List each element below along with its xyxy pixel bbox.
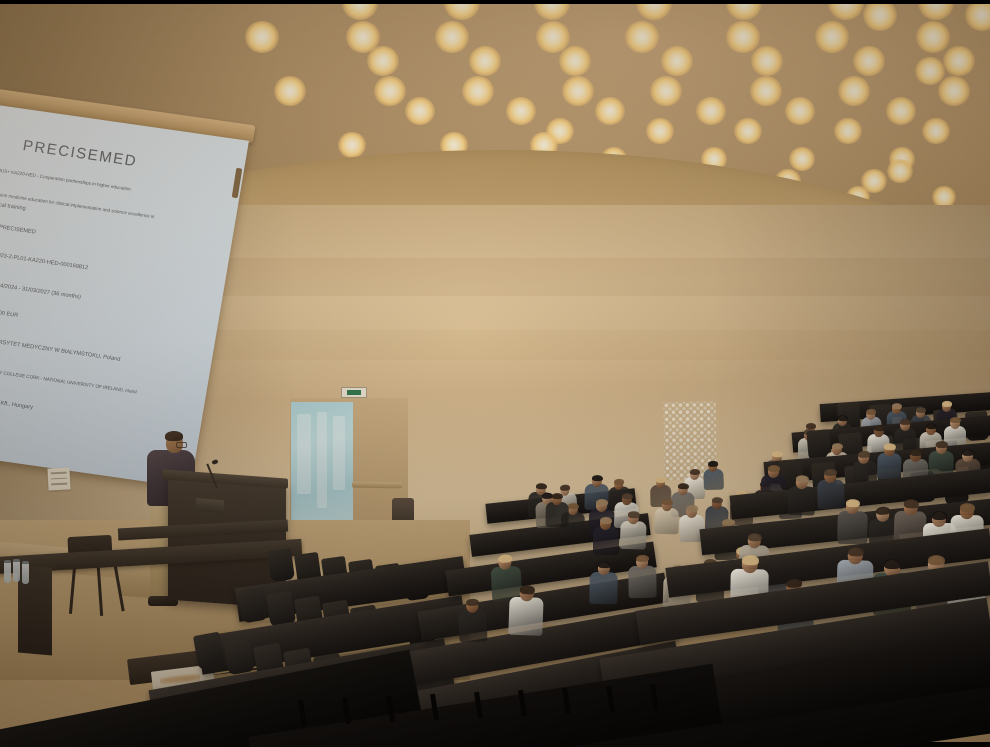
ceiling-light [726, 21, 760, 53]
water-bottle-2 [13, 559, 20, 582]
ceiling-light [595, 97, 624, 125]
person-body [876, 453, 901, 480]
person-hair [959, 503, 974, 512]
person-hair [910, 449, 922, 456]
person-body [654, 508, 678, 534]
seat-back[interactable] [238, 587, 268, 624]
person-hair [768, 465, 780, 472]
ceiling-light [562, 76, 594, 106]
ceiling-light [506, 97, 535, 125]
lecture-hall-photo: PRECISEMED t title:ERASMUS+ KA220-HED - … [0, 0, 990, 747]
ceiling-light [462, 76, 494, 106]
slide-value: PRECISEMED [0, 224, 36, 235]
ceiling-light [338, 132, 365, 158]
person-hair [857, 451, 869, 458]
ceiling-light [734, 118, 761, 144]
person-body [837, 511, 868, 545]
top-letterbox [0, 0, 990, 4]
water-bottle-3 [22, 561, 29, 584]
person-hair [551, 493, 562, 499]
person-hair [621, 493, 632, 500]
person-hair [899, 419, 910, 425]
ceiling-light [785, 97, 814, 125]
ceiling-light [625, 21, 659, 53]
ceiling-light [374, 76, 406, 106]
speaker-glasses [176, 442, 187, 448]
person-hair [559, 485, 569, 491]
ceiling-light [916, 21, 950, 53]
person-hair [613, 479, 623, 485]
ceiling-light [943, 46, 975, 76]
ceiling-light [922, 118, 949, 144]
ceiling-light [661, 46, 693, 76]
seat-back[interactable] [223, 637, 255, 676]
slide-value: iBioScience Kft., Hungary [0, 396, 33, 411]
slide-value: UNIWERSYTET MEDYCZNY W BIALYMSTOKU, Pola… [0, 337, 121, 363]
person-hair [747, 533, 761, 542]
person-hair [875, 507, 889, 516]
slide-title: PRECISEMED [22, 137, 139, 170]
person-hair [845, 499, 859, 507]
person-body [817, 479, 845, 508]
person-hair [567, 503, 578, 509]
ceiling-light [274, 76, 306, 106]
water-bottle-1 [4, 560, 11, 583]
person-hair [600, 517, 612, 524]
person-hair [883, 443, 895, 450]
slide-value: 2023-2-PL01-KA220-HED-000169812 [0, 252, 88, 271]
person-body [490, 566, 522, 602]
person-hair [831, 443, 842, 449]
person-hair [941, 401, 951, 407]
person-hair [535, 483, 546, 490]
person-hair [961, 449, 973, 456]
person-hair [932, 511, 947, 520]
person-body [628, 565, 657, 597]
ceiling-light [834, 118, 861, 144]
ceiling-light [938, 76, 970, 106]
person-hair [690, 469, 700, 475]
person-hair [916, 407, 926, 413]
person-hair [707, 461, 717, 467]
person-hair [497, 554, 511, 563]
ceiling-light [650, 76, 682, 106]
person-body [545, 502, 568, 527]
ceiling-light [435, 21, 469, 53]
wall-notice-sheet [47, 467, 70, 490]
ceiling-light [838, 76, 870, 106]
slide-value: UNIVERSITY COLLEGE CORK - NATIONAL UNIVE… [0, 366, 137, 394]
person-hair [661, 499, 672, 505]
person-hair [891, 403, 901, 409]
ceiling-light [367, 46, 399, 76]
seat-back[interactable] [267, 548, 295, 582]
person-body [589, 572, 618, 604]
person-hair [591, 475, 602, 481]
person-hair [823, 469, 836, 477]
ceiling-light [646, 118, 673, 144]
person-hair [795, 475, 808, 483]
ceiling-light [789, 147, 814, 171]
person-hair [711, 497, 722, 504]
ceiling-light [863, 0, 897, 31]
person-hair [635, 555, 648, 563]
person-hair [771, 451, 782, 458]
ceiling-light [469, 46, 501, 76]
ceiling-light [559, 46, 591, 76]
seat-back[interactable] [193, 632, 225, 671]
person-hair [884, 559, 901, 569]
person-body [619, 521, 646, 550]
person-body [787, 486, 815, 516]
ceiling-light [751, 46, 783, 76]
person-hair [847, 547, 863, 557]
person-hair [950, 417, 961, 423]
door-push-bar[interactable] [352, 482, 402, 489]
door-panel-left [297, 414, 311, 494]
slide-value: ERASMUS+ KA220-HED - Cooperation partner… [0, 166, 131, 192]
person-hair [596, 499, 608, 506]
person-body [703, 469, 724, 491]
person-body [508, 597, 543, 636]
person-hair [837, 415, 847, 421]
person-hair [597, 561, 610, 569]
person-hair [873, 425, 884, 432]
person-hair [655, 477, 665, 483]
speaker-hair [165, 431, 183, 441]
ceiling-light [887, 159, 912, 183]
ceiling-light [886, 97, 915, 125]
person-body [593, 527, 619, 555]
person-hair [925, 423, 936, 429]
person-hair [677, 483, 688, 490]
person-hair [685, 505, 697, 512]
ceiling-light [245, 21, 279, 53]
ceiling-light [815, 21, 849, 53]
person-hair [627, 511, 639, 518]
slide-value: 250 000 EUR [0, 308, 19, 319]
door-panel-right [333, 416, 345, 490]
door-panel-mid [317, 412, 327, 508]
ceiling-light [750, 76, 782, 106]
ceiling-light [405, 97, 434, 125]
person-hair [519, 585, 534, 594]
person-body [458, 609, 487, 642]
person-hair [865, 409, 875, 415]
exit-sign-icon [341, 387, 367, 398]
slide-value: 01/04/2024 - 31/03/2027 (36 months) [0, 282, 81, 301]
person-hair [935, 441, 947, 448]
person-hair [741, 555, 758, 565]
slide-value: medical training [0, 201, 26, 212]
podium-laptop [196, 498, 224, 513]
person-hair [465, 599, 478, 607]
person-hair [927, 555, 944, 565]
ceiling-light [696, 97, 725, 125]
ceiling-light [853, 46, 885, 76]
person-hair [903, 499, 918, 508]
person-hair [806, 423, 816, 429]
